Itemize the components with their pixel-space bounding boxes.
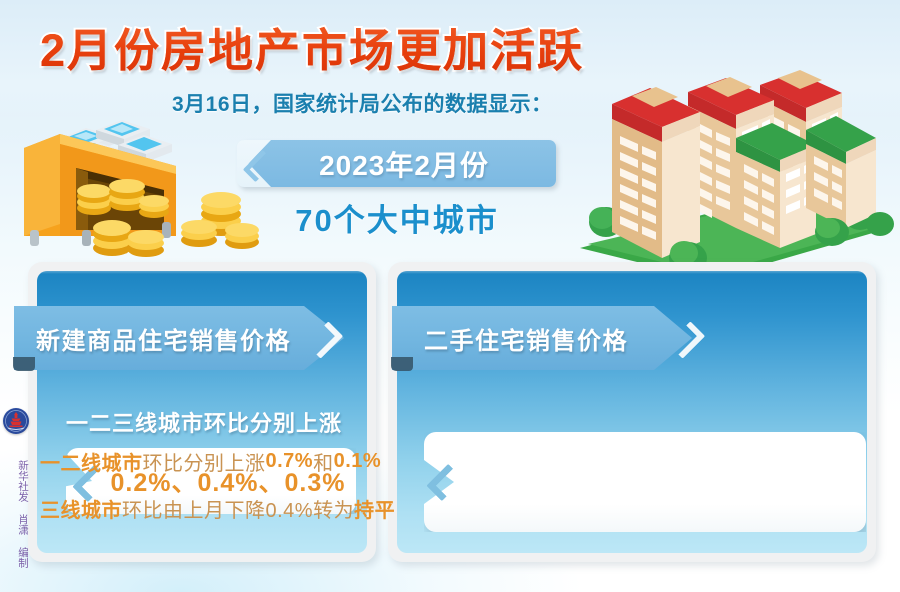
chevron-right-icon	[314, 322, 333, 354]
chevron-right-icon	[676, 322, 695, 354]
infographic-canvas: 2月份房地产市场更加活跃 2月份房地产市场更加活跃 3月16日，国家统计局公布的…	[0, 0, 900, 592]
credit-text: 新华社发 肖潇 编制	[3, 439, 29, 589]
period-banner-label: 2023年2月份	[238, 140, 556, 187]
line1-seg1: 一二线城市	[40, 447, 143, 476]
ribbon-second-hand-homes-label: 二手住宅销售价格	[424, 306, 628, 370]
line1-seg2: 环比分别上涨	[143, 447, 266, 476]
line1-seg5: 0.1%	[334, 450, 382, 473]
credit-block: 新华社发 肖潇 编制	[3, 408, 33, 589]
period-banner: 2023年2月份	[238, 140, 556, 187]
money-safe-illustration	[14, 112, 264, 262]
line1-seg3: 0.7%	[266, 450, 314, 473]
page-title: 2月份房地产市场更加活跃	[40, 14, 584, 79]
second-hand-line-1: 一二线城市环比分别上涨0.7%和0.1%	[40, 441, 440, 481]
line2-seg2: 环比由上月下降0.4%转为	[122, 494, 354, 523]
line2-seg3: 持平	[354, 494, 395, 523]
line1-seg4: 和	[313, 447, 334, 476]
second-hand-values-card	[424, 432, 866, 532]
ribbon-second-hand-homes-tail	[391, 357, 413, 371]
new-homes-lead-text: 一二三线城市环比分别上涨	[66, 406, 342, 438]
line2-seg1: 三线城市	[40, 494, 122, 523]
xinhua-logo-icon	[3, 408, 29, 434]
buildings-illustration	[560, 52, 900, 282]
scope-label: 70个大中城市	[238, 195, 556, 240]
ribbon-new-homes-tail	[13, 357, 35, 371]
second-hand-line-2: 三线城市环比由上月下降0.4%转为持平	[40, 488, 440, 528]
ribbon-new-homes-label: 新建商品住宅销售价格	[36, 306, 291, 370]
